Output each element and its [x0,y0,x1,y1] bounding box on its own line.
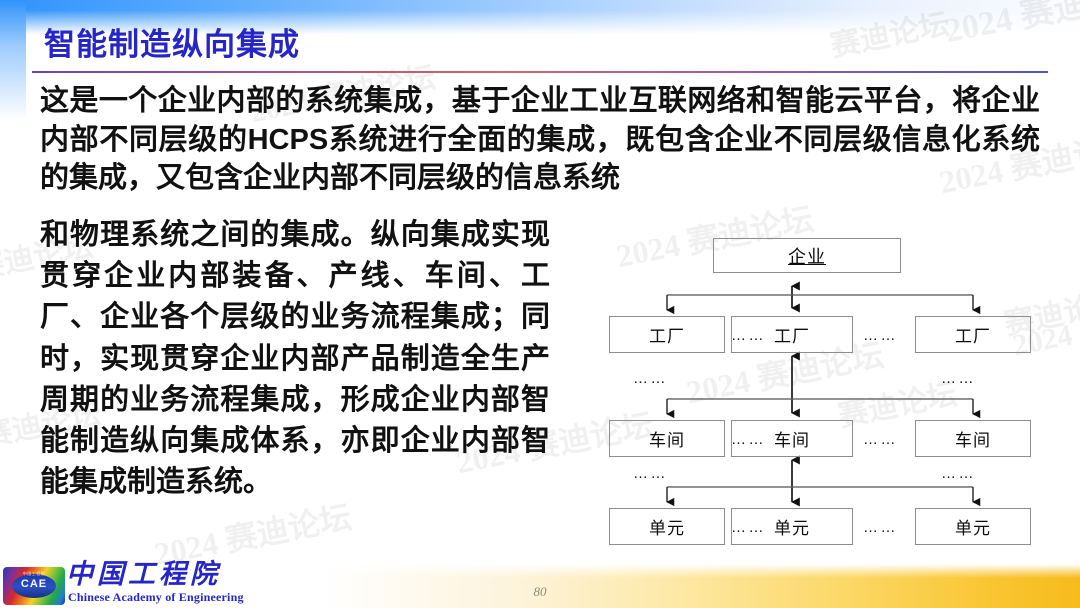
diagram-node-enterprise[interactable]: 企业 [713,238,901,273]
diagram-node-workshop-right[interactable]: 车间 [915,420,1031,457]
diagram-ellipsis-unit-2: …… [863,520,898,535]
diagram-node-workshop-left[interactable]: 车间 [609,420,725,457]
page-title: 智能制造纵向集成 [44,28,300,62]
vertical-integration-diagram: 企业 工厂 工厂 工厂 …… …… …… …… 车间 车间 车间 …… …… …… [585,238,1055,563]
diagram-node-factory-left[interactable]: 工厂 [609,316,725,353]
diagram-ellipsis-unit-1: …… [731,520,766,535]
diagram-ellipsis-workshop-1: …… [731,432,766,447]
title-underline [32,71,1048,73]
diagram-node-factory-right[interactable]: 工厂 [915,316,1031,353]
page-number: 80 [0,584,1080,600]
diagram-ellipsis-under-factory-left: …… [633,371,668,386]
body-paragraph-full: 这是一个企业内部的系统集成，基于企业工业互联网络和智能云平台，将企业内部不同层级… [40,82,1040,198]
diagram-ellipsis-under-factory-right: …… [941,371,976,386]
slide-root: 2024 赛迪论坛 赛迪论坛 2024 赛迪论坛 2024 赛迪论坛 2024 … [0,0,1080,608]
diagram-ellipsis-factory-2: …… [863,328,898,343]
diagram-ellipsis-under-workshop-right: …… [941,466,976,481]
diagram-ellipsis-workshop-2: …… [863,432,898,447]
diagram-ellipsis-factory-1: …… [731,328,766,343]
diagram-node-unit-left[interactable]: 单元 [609,508,725,545]
body-paragraph-column: 和物理系统之间的集成。纵向集成实现贯穿企业内部装备、产线、车间、工厂、企业各个层… [40,215,550,503]
cae-logo-cn-text: 中国工程院 [3,571,65,577]
diagram-node-unit-right[interactable]: 单元 [915,508,1031,545]
left-gradient-edge [0,0,26,120]
diagram-ellipsis-under-workshop-left: …… [633,466,668,481]
